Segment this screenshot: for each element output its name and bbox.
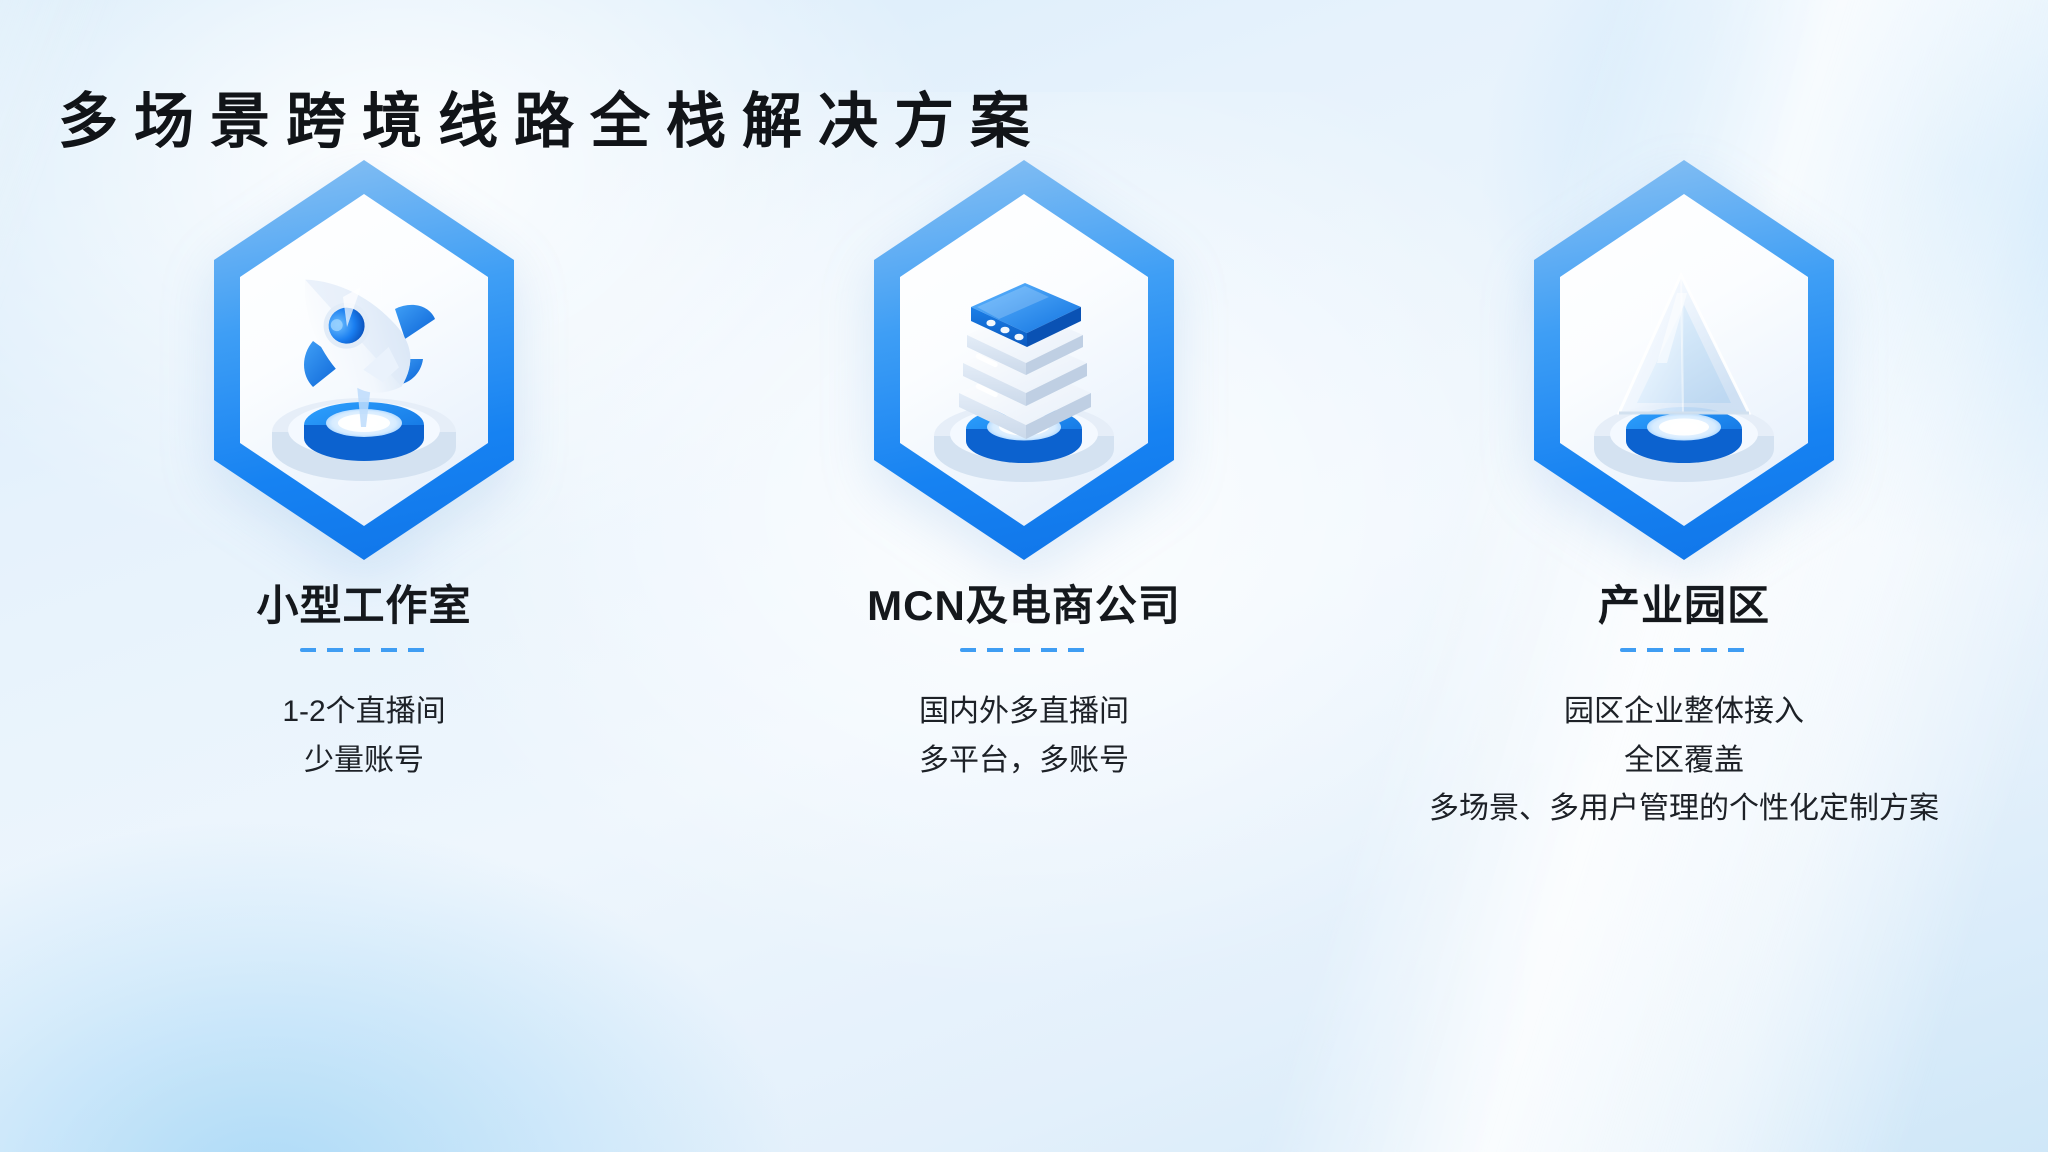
- card-description-line: 少量账号: [282, 737, 445, 786]
- scenario-card[interactable]: 产业园区 园区企业整体接入 全区覆盖 多场景、多用户管理的个性化定制方案: [1414, 160, 1954, 834]
- card-title: MCN及电商公司: [867, 582, 1181, 630]
- card-title: 产业园区: [1598, 582, 1770, 630]
- card-description: 国内外多直播间 多平台，多账号: [919, 688, 1129, 785]
- page-title: 多场景跨境线路全栈解决方案: [58, 92, 1046, 152]
- card-description-line: 多场景、多用户管理的个性化定制方案: [1429, 785, 1939, 834]
- hexagon-badge: [1534, 160, 1834, 560]
- card-description-line: 全区覆盖: [1429, 737, 1939, 786]
- card-divider: [300, 648, 428, 652]
- card-divider: [1620, 648, 1748, 652]
- card-description: 园区企业整体接入 全区覆盖 多场景、多用户管理的个性化定制方案: [1429, 688, 1939, 834]
- card-description-line: 国内外多直播间: [919, 688, 1129, 737]
- hexagon-badge: [874, 160, 1174, 560]
- card-divider: [960, 648, 1088, 652]
- scenario-card[interactable]: MCN及电商公司 国内外多直播间 多平台，多账号: [754, 160, 1294, 785]
- card-description-line: 园区企业整体接入: [1429, 688, 1939, 737]
- pyramid-icon: [1534, 160, 1834, 560]
- hexagon-badge: [214, 160, 514, 560]
- card-description: 1-2个直播间 少量账号: [282, 688, 445, 785]
- card-description-line: 多平台，多账号: [919, 737, 1129, 786]
- scenario-card[interactable]: 小型工作室 1-2个直播间 少量账号: [94, 160, 634, 785]
- background-accent-bottom-left: [0, 806, 819, 1152]
- card-title: 小型工作室: [256, 582, 471, 630]
- scenario-card-list: 小型工作室 1-2个直播间 少量账号: [0, 160, 2048, 834]
- slide-canvas: 多场景跨境线路全栈解决方案: [0, 0, 2048, 1152]
- rocket-icon: [214, 160, 514, 560]
- server-stack-icon: [874, 160, 1174, 560]
- card-description-line: 1-2个直播间: [282, 688, 445, 737]
